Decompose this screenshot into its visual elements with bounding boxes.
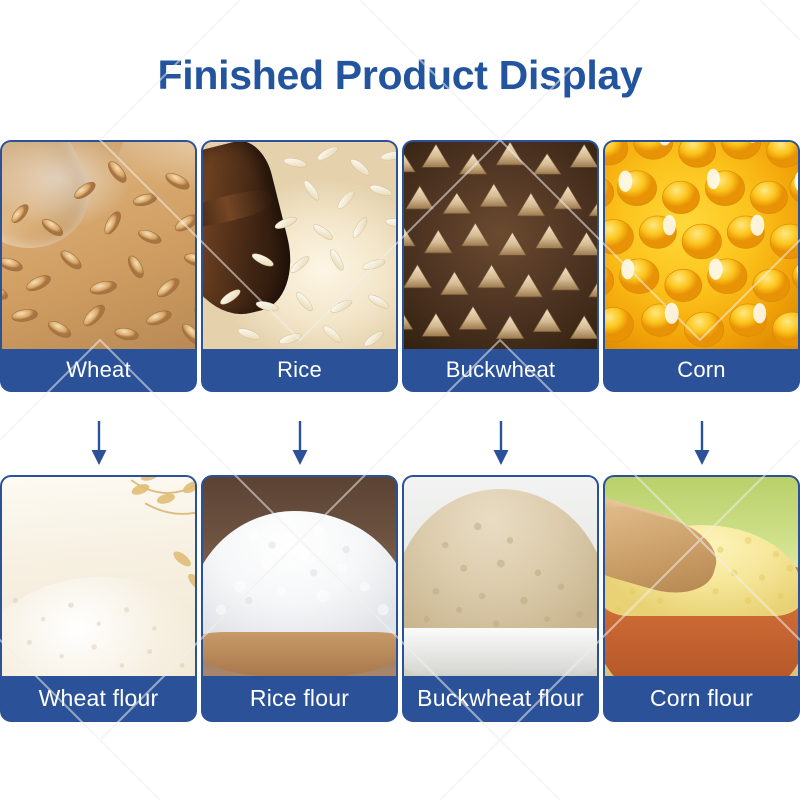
product-card-buckwheat[interactable]: Buckwheat [404,142,597,390]
product-label-corn-flour: Corn flour [605,676,798,720]
product-card-corn[interactable]: Corn [605,142,798,390]
process-arrow-row [2,420,798,466]
product-label-wheat: Wheat [2,349,195,390]
product-card-rice-flour[interactable]: Rice flour [203,477,396,720]
product-card-corn-flour[interactable]: Corn flour [605,477,798,720]
product-label-buckwheat: Buckwheat [404,349,597,390]
buckwheat-flour-icon [404,477,597,676]
product-card-wheat-flour[interactable]: Wheat flour [2,477,195,720]
rice-grain-icon [203,142,396,349]
corn-kernel-icon [605,142,798,349]
process-arrow-buckwheat [404,420,597,466]
page-title: Finished Product Display [0,52,800,99]
finished-product-row: Wheat flour [2,477,798,720]
process-arrow-corn [605,420,798,466]
product-label-wheat-flour: Wheat flour [2,676,195,720]
process-arrow-rice [203,420,396,466]
product-card-wheat[interactable]: Wheat [2,142,195,390]
product-card-buckwheat-flour[interactable]: Buckwheat flour [404,477,597,720]
rice-flour-icon [203,477,396,676]
wheat-grain-icon [2,142,195,349]
wheat-flour-icon [2,477,195,676]
corn-flour-icon [605,477,798,676]
product-card-rice[interactable]: Rice [203,142,396,390]
product-label-rice-flour: Rice flour [203,676,396,720]
product-label-corn: Corn [605,349,798,390]
process-arrow-wheat [2,420,195,466]
raw-material-row: Wheat [2,142,798,390]
product-label-buckwheat-flour: Buckwheat flour [404,676,597,720]
buckwheat-grain-icon [404,142,597,349]
product-label-rice: Rice [203,349,396,390]
